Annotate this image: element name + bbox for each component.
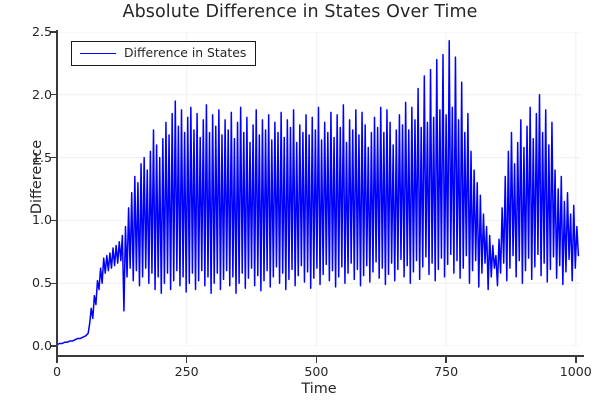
y-tick-label: 0.0 <box>0 338 52 353</box>
y-tick-label: 0.5 <box>0 275 52 290</box>
x-tick-label: 1000 <box>536 364 600 379</box>
x-tick-label: 750 <box>406 364 486 379</box>
x-tick-label: 0 <box>17 364 97 379</box>
chart-legend: Difference in States <box>71 41 256 66</box>
x-tick-mark <box>316 356 317 363</box>
x-axis-label: Time <box>57 381 581 397</box>
x-tick-label: 500 <box>276 364 356 379</box>
series-difference-in-states <box>57 32 581 346</box>
y-axis-label: Difference <box>29 87 45 267</box>
x-tick-mark <box>445 356 446 363</box>
y-tick-label: 2.5 <box>0 24 52 39</box>
plot-area <box>57 32 581 346</box>
x-tick-mark <box>56 356 57 363</box>
chart-figure: Absolute Difference in States Over Time … <box>0 0 600 400</box>
x-tick-mark <box>575 356 576 363</box>
x-tick-mark <box>186 356 187 363</box>
y-axis-spine <box>56 30 58 358</box>
legend-label: Difference in States <box>124 47 246 59</box>
legend-swatch-icon <box>80 53 116 54</box>
chart-title: Absolute Difference in States Over Time <box>0 2 600 22</box>
x-tick-label: 250 <box>147 364 227 379</box>
x-axis-spine <box>56 355 584 357</box>
